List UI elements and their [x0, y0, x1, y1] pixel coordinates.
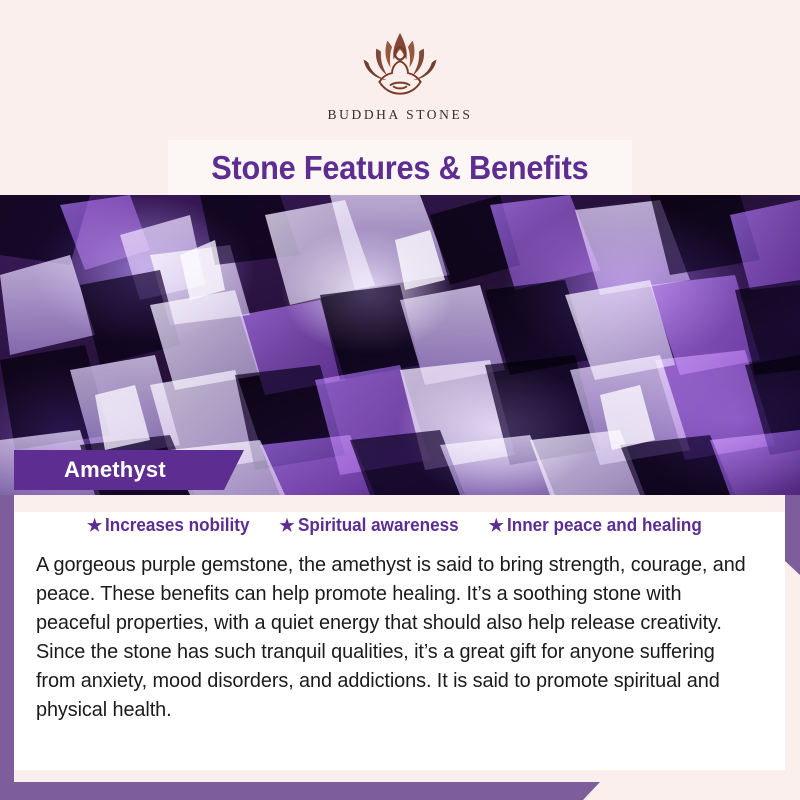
- star-icon: ★: [279, 517, 294, 534]
- benefit-label: Spiritual awareness: [298, 515, 459, 536]
- content-panel: ★ Increases nobility ★ Spiritual awarene…: [14, 495, 785, 770]
- benefit-label: Increases nobility: [105, 515, 249, 536]
- brand-logo: BUDDHA STONES: [0, 28, 800, 123]
- poster-header: BUDDHA STONES Stone Features & Benefits: [0, 0, 800, 195]
- decor-left-strip: [0, 488, 14, 783]
- benefit-item: ★ Spiritual awareness: [279, 515, 466, 536]
- benefit-item: ★ Inner peace and healing: [489, 515, 712, 536]
- lotus-meditation-figure-icon: [352, 28, 448, 104]
- stone-name-banner: Amethyst: [14, 450, 244, 490]
- star-icon: ★: [87, 517, 102, 534]
- star-icon: ★: [489, 517, 504, 534]
- decor-bottom-band: [0, 782, 600, 800]
- panel-top-tint: [14, 495, 785, 512]
- brand-name: BUDDHA STONES: [328, 107, 473, 123]
- stone-features-poster: BUDDHA STONES Stone Features & Benefits: [0, 0, 800, 800]
- benefit-item: ★ Increases nobility: [87, 515, 257, 536]
- stone-name: Amethyst: [64, 457, 166, 483]
- benefit-label: Inner peace and healing: [507, 515, 702, 536]
- stone-description: A gorgeous purple gemstone, the amethyst…: [36, 550, 754, 724]
- benefits-list: ★ Increases nobility ★ Spiritual awarene…: [14, 515, 785, 536]
- page-title: Stone Features & Benefits: [211, 149, 588, 187]
- page-title-plate: Stone Features & Benefits: [168, 140, 632, 195]
